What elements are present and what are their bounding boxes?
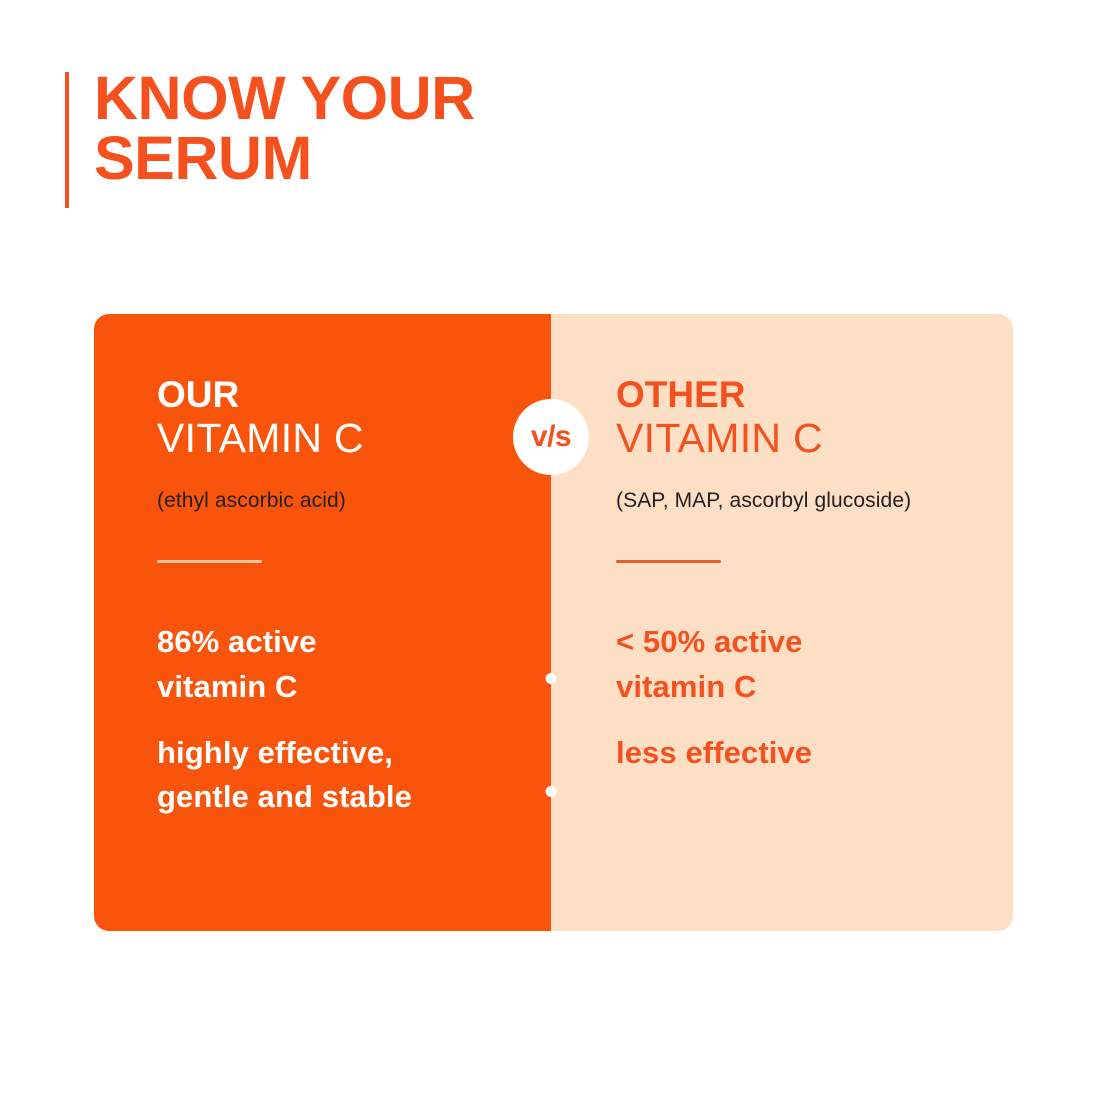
divider-dot-marker — [546, 673, 557, 684]
right-panel-divider-rule — [616, 560, 721, 563]
right-panel-bullet-list: < 50% active vitamin C less effective — [616, 620, 1013, 775]
page-title: KNOW YOUR SERUM — [94, 68, 475, 189]
left-panel-title: VITAMIN C — [157, 416, 551, 462]
list-item: highly effective, gentle and stable — [157, 731, 551, 820]
right-panel-subtitle: (SAP, MAP, ascorbyl glucoside) — [616, 489, 1013, 513]
page-heading: KNOW YOUR SERUM — [65, 68, 475, 208]
right-panel-kicker: OTHER — [616, 376, 1013, 414]
left-panel-divider-rule — [157, 560, 262, 563]
right-panel-title: VITAMIN C — [616, 416, 1013, 462]
list-item: 86% active vitamin C — [157, 620, 551, 709]
left-panel-bullet-list: 86% active vitamin C highly effective, g… — [157, 620, 551, 819]
versus-badge: v/s — [513, 399, 589, 475]
list-item: < 50% active vitamin C — [616, 620, 1013, 709]
panel-our-vitamin-c: OUR VITAMIN C (ethyl ascorbic acid) 86% … — [94, 314, 551, 931]
heading-accent-bar — [65, 72, 69, 208]
left-panel-subtitle: (ethyl ascorbic acid) — [157, 489, 551, 513]
divider-dot-marker — [546, 786, 557, 797]
panel-other-vitamin-c: OTHER VITAMIN C (SAP, MAP, ascorbyl gluc… — [551, 314, 1013, 931]
list-item: less effective — [616, 731, 1013, 775]
left-panel-kicker: OUR — [157, 376, 551, 414]
